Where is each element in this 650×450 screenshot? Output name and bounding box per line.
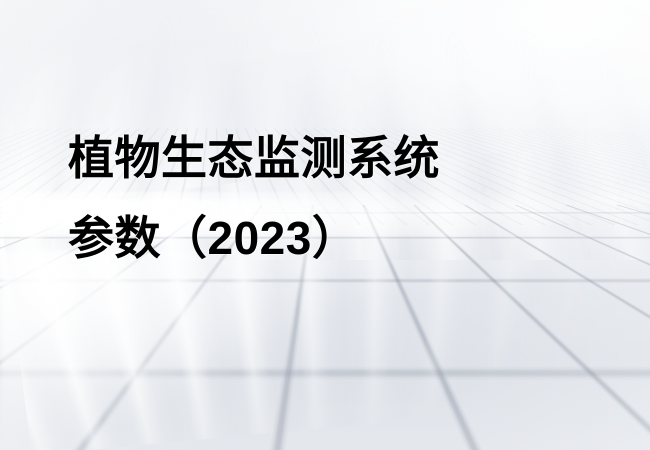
title-line-2: 参数（2023）: [68, 198, 598, 278]
page-title: 植物生态监测系统 参数（2023）: [68, 118, 598, 278]
background-swirl-glow: [0, 250, 650, 450]
title-slide: 植物生态监测系统 参数（2023）: [0, 0, 650, 450]
title-line-1: 植物生态监测系统: [68, 118, 598, 198]
